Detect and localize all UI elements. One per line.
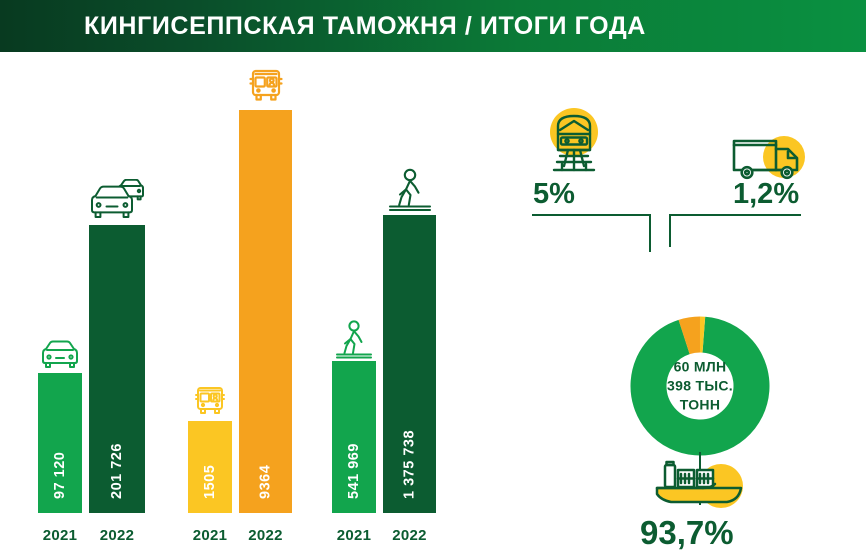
bar-year-pedestrians-2021: 2021: [332, 527, 376, 544]
bar-value-buses-2021: 1505: [188, 425, 232, 499]
car-icon: [39, 339, 81, 371]
train-icon: [538, 104, 610, 180]
bar-column-buses-2021[interactable]: 1505 2021: [188, 383, 232, 513]
header-banner: КИНГИСЕППСКАЯ ТАМОЖНЯ / ИТОГИ ГОДА: [0, 0, 866, 52]
bar-group-pedestrians: 541 969 2021: [310, 52, 480, 552]
bar-cars-2021: 97 120: [38, 373, 82, 513]
bar-value-buses-2022: 9364: [239, 425, 292, 499]
bar-column-pedestrians-2021[interactable]: 541 969 2021: [332, 318, 376, 513]
bar-year-pedestrians-2022: 2022: [383, 527, 436, 544]
leader-line-horizontal-left: [532, 214, 651, 216]
donut-chart: 5% 1,2%: [490, 52, 866, 552]
bar-buses-2021: 1505: [188, 421, 232, 513]
donut-center-line-3: ТОНН: [640, 395, 760, 414]
bar-value-cars-2022: 201 726: [89, 389, 145, 499]
bar-column-cars-2021[interactable]: 97 120 2021: [38, 333, 82, 513]
bar-cars-2022: 201 726: [89, 225, 145, 513]
bar-year-buses-2022: 2022: [239, 527, 292, 544]
truck-percent-label: 1,2%: [733, 178, 799, 211]
pedestrian-icon: [386, 167, 434, 213]
leader-line-vertical-truck: [669, 214, 671, 247]
bar-chart: 97 120 2021: [0, 52, 480, 552]
leader-line-vertical-rail: [649, 214, 651, 252]
bar-year-cars-2022: 2022: [89, 527, 145, 544]
donut-center-text: 60 МЛН 398 ТЫС. ТОНН: [640, 358, 760, 415]
bar-column-pedestrians-2022[interactable]: 1 375 738 2022: [383, 163, 436, 513]
bar-buses-2022: 9364: [239, 110, 292, 513]
page-title: КИНГИСЕППСКАЯ ТАМОЖНЯ / ИТОГИ ГОДА: [84, 12, 646, 41]
bar-pedestrians-2021: 541 969: [332, 361, 376, 513]
infographic-page: КИНГИСЕППСКАЯ ТАМОЖНЯ / ИТОГИ ГОДА: [0, 0, 866, 552]
bar-value-pedestrians-2022: 1 375 738: [383, 369, 436, 499]
bar-value-cars-2021: 97 120: [38, 389, 82, 499]
bar-group-cars: 97 120 2021: [0, 52, 170, 552]
leader-line-horizontal-right: [669, 214, 801, 216]
bar-value-pedestrians-2021: 541 969: [332, 387, 376, 499]
ship-icon: [643, 450, 761, 516]
bar-column-cars-2022[interactable]: 201 726 2022: [89, 173, 145, 513]
car-pair-icon: [89, 179, 145, 221]
bar-group-buses: 1505 2021: [160, 52, 330, 552]
ship-percent-label: 93,7%: [640, 514, 734, 552]
pedestrian-icon: [333, 319, 375, 361]
donut-center-line-1: 60 МЛН: [640, 358, 760, 377]
bar-pedestrians-2022: 1 375 738: [383, 215, 436, 513]
donut-center-line-2: 398 ТЫС.: [640, 377, 760, 396]
bar-year-cars-2021: 2021: [38, 527, 82, 544]
bus-icon: [246, 68, 286, 106]
rail-percent-label: 5%: [533, 178, 575, 211]
bus-icon: [192, 385, 228, 417]
bar-year-buses-2021: 2021: [188, 527, 232, 544]
bar-column-buses-2022[interactable]: 9364 2022: [239, 58, 292, 513]
